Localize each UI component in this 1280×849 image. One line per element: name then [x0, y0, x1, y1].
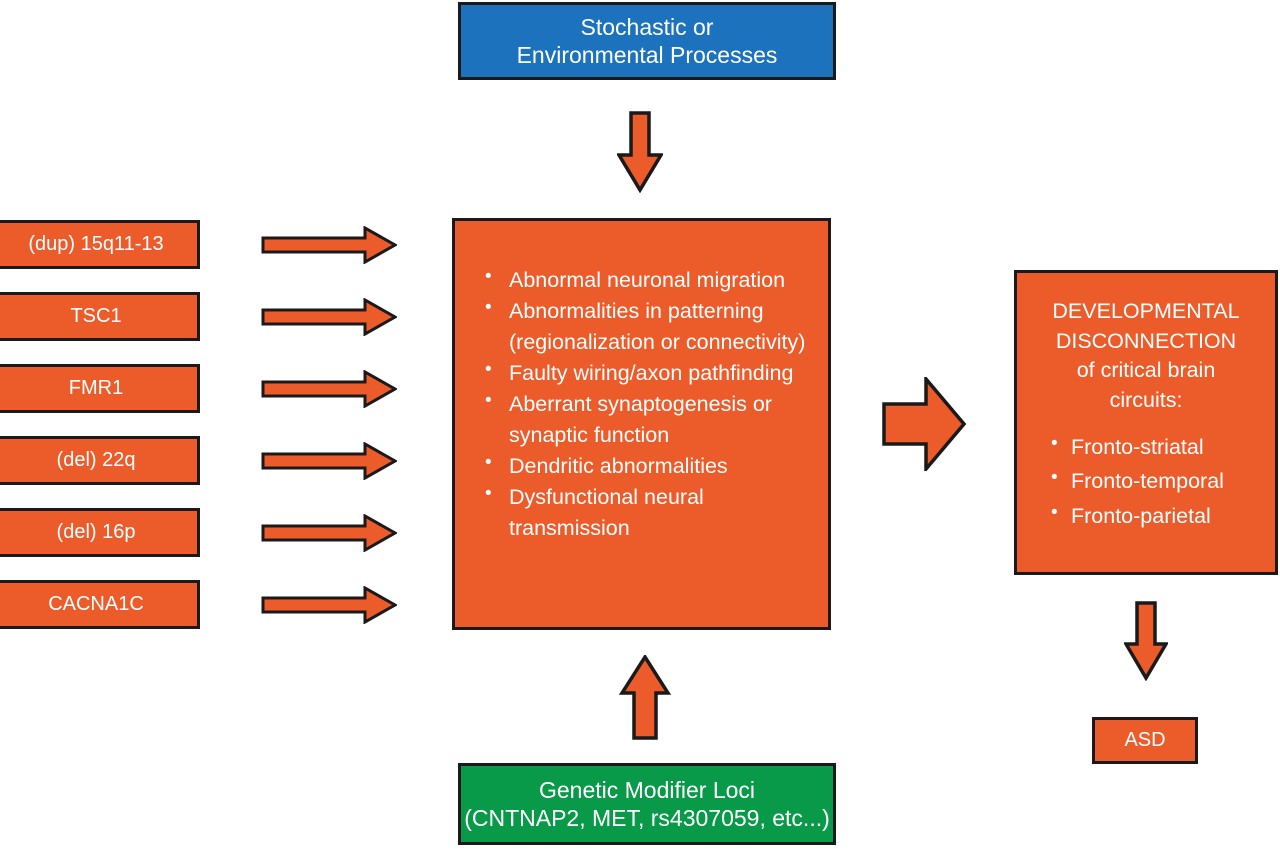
disconnection-heading-line-1: DEVELOPMENTAL: [1027, 297, 1265, 327]
gene-box-label: (del) 16p: [57, 520, 136, 544]
gene-box-label: FMR1: [69, 376, 123, 400]
gene-box-label: (dup) 15q11-13: [28, 232, 163, 256]
down-arrow-disconnection-to-asd: [1124, 601, 1168, 681]
up-arrow-genetic-to-central: [619, 655, 671, 740]
central-bullet-item: Dysfunctional neural transmission: [475, 482, 828, 543]
disconnection-bullet-list: Fronto-striatal Fronto-temporal Fronto-p…: [1017, 416, 1275, 534]
central-bullet-list: Abnormal neuronal migration Abnormalitie…: [455, 221, 828, 543]
right-arrow-gene-4: [261, 442, 397, 480]
disconnection-bullet-item: Fronto-striatal: [1051, 430, 1275, 465]
gene-box-label: TSC1: [70, 304, 121, 328]
central-bullet-item: Abnormal neuronal migration: [475, 265, 828, 295]
developmental-disconnection-box: DEVELOPMENTAL DISCONNECTION of critical …: [1014, 270, 1278, 575]
disconnection-heading: DEVELOPMENTAL DISCONNECTION of critical …: [1017, 273, 1275, 416]
diagram-canvas: Stochastic or Environmental Processes (d…: [0, 0, 1280, 849]
central-bullet-item: Abnormalities in patterning (regionaliza…: [475, 296, 828, 357]
disconnection-heading-line-3: of critical brain: [1027, 356, 1265, 386]
stochastic-line-1: Stochastic or: [517, 13, 778, 41]
asd-outcome-box: ASD: [1092, 717, 1198, 764]
gene-box-cacna1c: CACNA1C: [0, 580, 200, 629]
gene-box-del-16p: (del) 16p: [0, 508, 200, 557]
gene-box-dup-15q11-13: (dup) 15q11-13: [0, 220, 200, 269]
genetic-line-1: Genetic Modifier Loci: [464, 776, 830, 804]
stochastic-environmental-box: Stochastic or Environmental Processes: [458, 2, 836, 80]
central-bullet-item: Faulty wiring/axon pathfinding: [475, 358, 828, 388]
genetic-modifier-loci-box: Genetic Modifier Loci (CNTNAP2, MET, rs4…: [458, 763, 836, 845]
disconnection-heading-line-2: DISCONNECTION: [1027, 327, 1265, 357]
right-arrow-gene-6: [261, 586, 397, 624]
stochastic-line-2: Environmental Processes: [517, 41, 778, 69]
right-arrow-gene-1: [261, 226, 397, 264]
disconnection-bullet-item: Fronto-temporal: [1051, 464, 1275, 499]
disconnection-bullet-item: Fronto-parietal: [1051, 499, 1275, 534]
gene-box-del-22q: (del) 22q: [0, 436, 200, 485]
genetic-line-2: (CNTNAP2, MET, rs4307059, etc...): [464, 804, 830, 832]
gene-box-label: (del) 22q: [57, 448, 136, 472]
gene-box-label: CACNA1C: [48, 592, 144, 616]
right-arrow-gene-2: [261, 298, 397, 336]
down-arrow-stochastic-to-central: [617, 111, 663, 193]
gene-box-fmr1: FMR1: [0, 364, 200, 413]
right-arrow-gene-5: [261, 514, 397, 552]
disconnection-heading-line-4: circuits:: [1027, 386, 1265, 416]
right-arrow-gene-3: [261, 370, 397, 408]
right-arrow-large-central-to-disconnection: [882, 377, 966, 471]
central-mechanisms-box: Abnormal neuronal migration Abnormalitie…: [452, 218, 831, 630]
central-bullet-item: Aberrant synaptogenesis or synaptic func…: [475, 389, 828, 450]
central-bullet-item: Dendritic abnormalities: [475, 451, 828, 481]
asd-label: ASD: [1124, 728, 1165, 752]
gene-box-tsc1: TSC1: [0, 292, 200, 341]
